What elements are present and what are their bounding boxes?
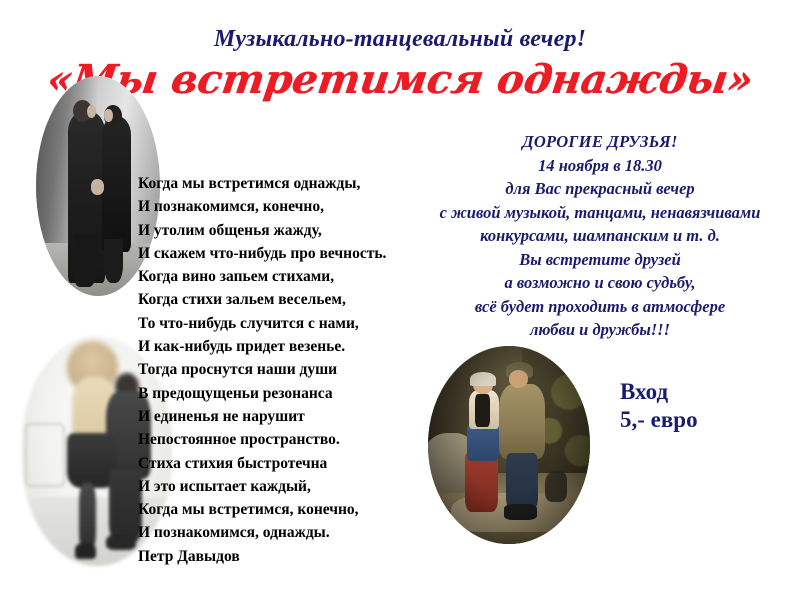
dancers-photo-woman-leg (79, 483, 96, 552)
poem-line: Когда мы встретимся, конечно, (138, 498, 438, 521)
painting-vignette (428, 346, 590, 544)
poem-line: И познакомимся, однажды. (138, 521, 438, 544)
poem-line: Когда вино запьем стихами, (138, 265, 438, 288)
poem-author: Петр Давыдов (138, 545, 438, 568)
poem-line: Когда мы встретимся однажды, (138, 172, 438, 195)
invitation-line: конкурсами, шампанским и т. д. (400, 224, 800, 248)
poem-line: И единенья не нарушит (138, 405, 438, 428)
poem-line: И это испытает каждый, (138, 475, 438, 498)
couple-photo-woman-legs (104, 239, 123, 283)
entry-price: 5,- евро (620, 406, 698, 434)
dancers-photo-woman-shoe (75, 543, 96, 559)
invitation-line: с живой музыкой, танцами, ненавязчивами (400, 201, 800, 225)
dancers-photo-chair (25, 423, 65, 487)
poem-line: Стиха стихия быстротечна (138, 452, 438, 475)
poem-block: Когда мы встретимся однажды, И познакоми… (138, 172, 438, 568)
entry-price-block: Вход 5,- евро (620, 378, 698, 434)
couple-photo-hands (91, 179, 105, 194)
couple-photo-man-legs (73, 234, 95, 287)
couple-photo-woman-body (102, 116, 132, 252)
entry-label: Вход (620, 378, 698, 406)
poem-line: Непостоянное пространство. (138, 428, 438, 451)
poster-headline: Музыкально-танцевальный вечер! (0, 26, 800, 53)
dancers-photo-man-shoe (106, 534, 136, 550)
invitation-line: 14 ноября в 18.30 (400, 154, 800, 178)
poem-line: И скажем что-нибудь про вечность. (138, 242, 438, 265)
poem-line: И как-нибудь придет везенье. (138, 335, 438, 358)
poem-line: Тогда проснутся наши души (138, 358, 438, 381)
invitation-line: а возможно и свою судьбу, (400, 271, 800, 295)
couple-photo-woman-face (104, 109, 113, 122)
invitation-line: всё будет проходить в атмосфере (400, 295, 800, 319)
poem-line: В предощущеньи резонанса (138, 382, 438, 405)
poem-line: То что-нибудь случится с нами, (138, 312, 438, 335)
couple-photo-man-face (87, 105, 96, 118)
event-poster: Музыкально-танцевальный вечер! «Мы встре… (0, 0, 800, 600)
invitation-line: для Вас прекрасный вечер (400, 177, 800, 201)
invitation-block: ДОРОГИЕ ДРУЗЬЯ! 14 ноября в 18.30 для Ва… (400, 130, 800, 342)
invitation-line: Вы встретите друзей (400, 248, 800, 272)
invitation-line: любви и дружбы!!! (400, 318, 800, 342)
poem-line: Когда стихи зальем весельем, (138, 288, 438, 311)
oil-painting-courting-couple (428, 346, 590, 544)
invitation-line: ДОРОГИЕ ДРУЗЬЯ! (400, 130, 800, 154)
poem-line: И утолим общенья жажду, (138, 219, 438, 242)
poem-line: И познакомимся, конечно, (138, 195, 438, 218)
